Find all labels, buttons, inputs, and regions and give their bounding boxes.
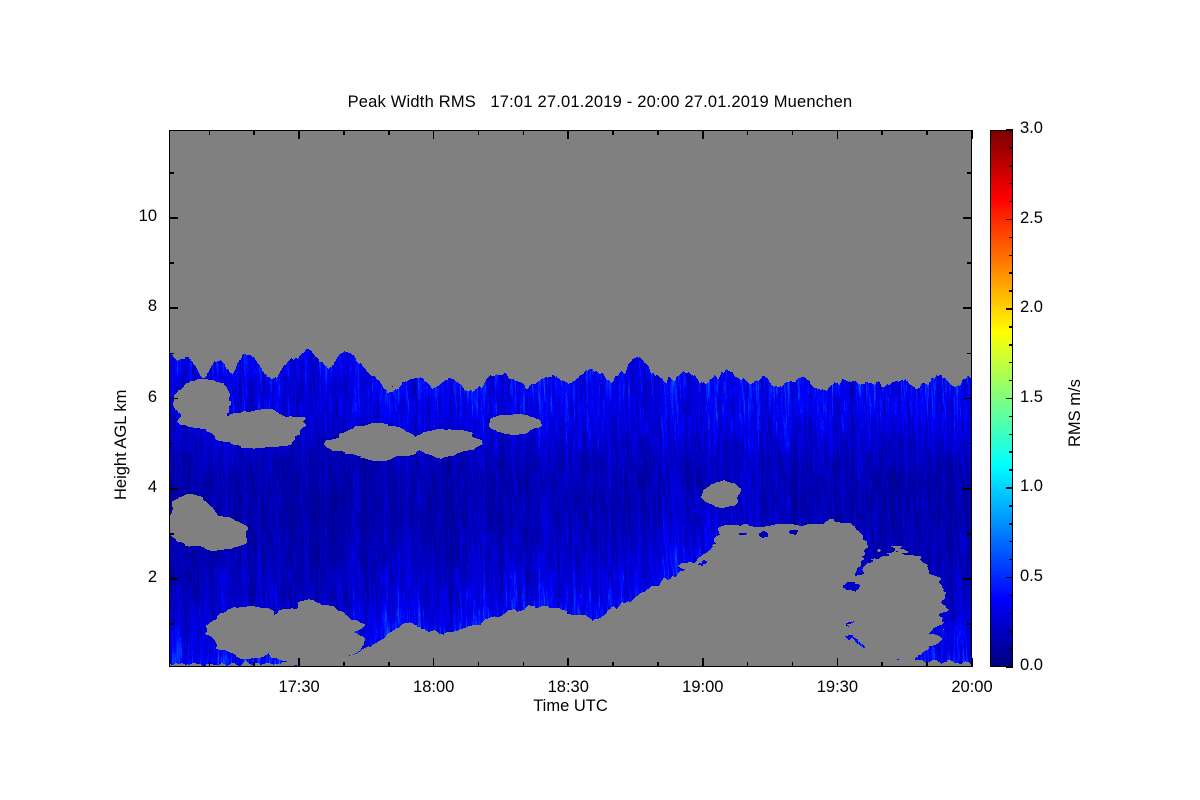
colorbar-tick-minor: [1009, 326, 1013, 328]
colorbar-tick-minor: [1009, 595, 1013, 597]
figure-canvas: Peak Width RMS 17:01 27.01.2019 - 20:00 …: [0, 0, 1200, 800]
colorbar-tick-major: [1006, 308, 1013, 310]
colorbar-tick-minor: [1009, 237, 1013, 239]
colorbar-tick-minor: [1009, 255, 1013, 257]
x-tick-label: 20:00: [922, 678, 1022, 697]
colorbar-tick-minor: [1009, 451, 1013, 453]
colorbar-tick-label: 3.0: [1020, 119, 1043, 138]
colorbar-tick-label: 1.5: [1020, 388, 1043, 407]
x-axis-label: Time UTC: [169, 697, 972, 716]
x-tick-minor-top: [926, 130, 928, 135]
colorbar-tick-major: [1006, 577, 1013, 579]
x-tick-minor: [881, 662, 883, 667]
colorbar-tick-minor: [1009, 147, 1013, 149]
y-tick-major: [169, 398, 178, 400]
plot-title: Peak Width RMS 17:01 27.01.2019 - 20:00 …: [0, 93, 1200, 112]
x-tick-minor: [523, 662, 525, 667]
y-tick-minor: [169, 262, 174, 264]
colorbar-label: RMS m/s: [1066, 379, 1085, 447]
colorbar-tick-major: [1006, 219, 1013, 221]
y-tick-major-right: [963, 488, 972, 490]
x-tick-minor: [657, 662, 659, 667]
colorbar-tick-minor: [1009, 416, 1013, 418]
colorbar-tick-major: [1006, 487, 1013, 489]
y-tick-major: [169, 217, 178, 219]
y-tick-major: [169, 488, 178, 490]
x-tick-major-top: [433, 130, 435, 139]
colorbar-tick-minor: [1009, 272, 1013, 274]
x-tick-minor-top: [388, 130, 390, 135]
colorbar-tick-minor: [1009, 290, 1013, 292]
x-tick-label: 18:30: [518, 678, 618, 697]
x-tick-major-top: [298, 130, 300, 139]
x-tick-major-top: [971, 130, 973, 139]
y-tick-minor-right: [967, 262, 972, 264]
y-tick-minor-right: [967, 533, 972, 535]
colorbar-tick-label: 1.0: [1020, 477, 1043, 496]
y-tick-minor: [169, 533, 174, 535]
colorbar-tick-minor: [1009, 183, 1013, 185]
x-tick-minor: [388, 662, 390, 667]
x-tick-major: [298, 658, 300, 667]
x-tick-major-top: [567, 130, 569, 139]
x-tick-minor: [747, 662, 749, 667]
y-tick-minor: [169, 353, 174, 355]
colorbar-tick-major: [1006, 666, 1013, 668]
colorbar-tick-minor: [1009, 380, 1013, 382]
x-tick-label: 18:00: [384, 678, 484, 697]
y-tick-major: [169, 307, 178, 309]
colorbar-tick-label: 0.5: [1020, 567, 1043, 586]
colorbar-tick-minor: [1009, 362, 1013, 364]
colorbar-tick-minor: [1009, 613, 1013, 615]
colorbar-tick-minor: [1009, 648, 1013, 650]
colorbar-tick-minor: [1009, 630, 1013, 632]
x-tick-minor-top: [881, 130, 883, 135]
colorbar-tick-major: [1006, 398, 1013, 400]
heatmap-axes[interactable]: [169, 130, 972, 667]
x-tick-major: [567, 658, 569, 667]
y-tick-label: 8: [103, 297, 157, 316]
colorbar-tick-major: [1006, 129, 1013, 131]
y-tick-major-right: [963, 578, 972, 580]
y-tick-major-right: [963, 398, 972, 400]
x-tick-minor-top: [612, 130, 614, 135]
x-tick-major: [702, 658, 704, 667]
x-tick-minor-top: [478, 130, 480, 135]
x-tick-minor-top: [657, 130, 659, 135]
x-tick-major-top: [702, 130, 704, 139]
colorbar-tick-minor: [1009, 344, 1013, 346]
colorbar-tick-minor: [1009, 165, 1013, 167]
x-tick-major: [971, 658, 973, 667]
colorbar-tick-label: 2.5: [1020, 209, 1043, 228]
y-tick-major: [169, 578, 178, 580]
x-tick-minor-top: [343, 130, 345, 135]
x-tick-minor-top: [209, 130, 211, 135]
colorbar-tick-minor: [1009, 559, 1013, 561]
colorbar-tick-minor: [1009, 201, 1013, 203]
y-tick-label: 10: [103, 207, 157, 226]
x-tick-label: 17:30: [249, 678, 349, 697]
x-tick-label: 19:00: [653, 678, 753, 697]
x-tick-minor: [478, 662, 480, 667]
colorbar-tick-label: 2.0: [1020, 298, 1043, 317]
x-tick-minor: [253, 662, 255, 667]
colorbar-tick-minor: [1009, 541, 1013, 543]
colorbar-tick-label: 0.0: [1020, 656, 1043, 675]
x-tick-minor-top: [747, 130, 749, 135]
y-tick-minor: [169, 623, 174, 625]
x-tick-major-top: [837, 130, 839, 139]
x-tick-minor-top: [523, 130, 525, 135]
y-tick-major-right: [963, 307, 972, 309]
y-axis-label: Height AGL km: [112, 390, 131, 500]
y-tick-minor: [169, 443, 174, 445]
y-tick-minor-right: [967, 172, 972, 174]
colorbar-tick-minor: [1009, 523, 1013, 525]
y-tick-minor-right: [967, 353, 972, 355]
x-tick-minor-top: [792, 130, 794, 135]
y-tick-minor-right: [967, 623, 972, 625]
x-tick-minor: [209, 662, 211, 667]
x-tick-major: [433, 658, 435, 667]
x-tick-minor-top: [253, 130, 255, 135]
y-tick-minor: [169, 172, 174, 174]
y-tick-minor-right: [967, 443, 972, 445]
heatmap-image[interactable]: [170, 131, 972, 667]
y-tick-label: 2: [103, 568, 157, 587]
x-tick-minor: [926, 662, 928, 667]
x-tick-minor: [792, 662, 794, 667]
colorbar-tick-minor: [1009, 469, 1013, 471]
x-tick-minor: [612, 662, 614, 667]
y-tick-major-right: [963, 217, 972, 219]
x-tick-minor: [343, 662, 345, 667]
colorbar-tick-minor: [1009, 434, 1013, 436]
x-tick-major: [837, 658, 839, 667]
colorbar-tick-minor: [1009, 505, 1013, 507]
x-tick-label: 19:30: [787, 678, 887, 697]
